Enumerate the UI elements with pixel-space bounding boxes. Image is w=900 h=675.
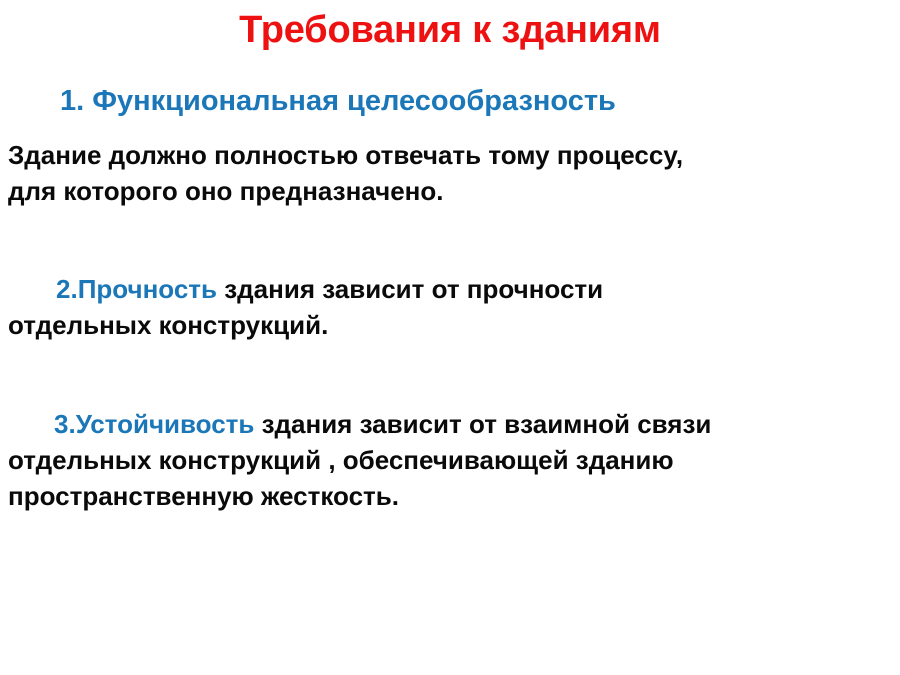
slide-canvas: Требования к зданиям 1. Функциональная ц… [0, 0, 900, 675]
section-3-number: 3. [54, 409, 76, 439]
section-2-body-line-1: здания зависит от прочности [217, 274, 603, 304]
page-title: Требования к зданиям [0, 8, 900, 53]
section-2-body: 2.Прочность здания зависит от прочности … [8, 272, 788, 344]
section-3-body-line-1: здания зависит от взаимной связи [254, 409, 711, 439]
section-1-body: Здание должно полностью отвечать тому пр… [8, 138, 648, 210]
section-3-body: 3.Устойчивость здания зависит от взаимно… [8, 407, 888, 515]
section-2-body-line-2: отдельных конструкций. [8, 310, 328, 340]
section-1-body-line-1: Здание должно полностью отвечать тому пр… [8, 138, 648, 174]
section-1-heading-text: Функциональная целесообразность [92, 85, 616, 117]
section-3-heading-text: Устойчивость [76, 409, 255, 439]
section-2-heading-text: Прочность [78, 274, 217, 304]
section-1-heading: 1. Функциональная целесообразность [60, 84, 860, 119]
section-3-body-line-3: пространственную жесткость. [8, 481, 399, 511]
section-3-body-line-2: отдельных конструкций , обеспечивающей з… [8, 445, 674, 475]
section-2-number: 2. [56, 274, 78, 304]
section-1-number: 1. [60, 85, 92, 117]
section-1-body-line-2: для которого оно предназначено. [8, 174, 648, 210]
